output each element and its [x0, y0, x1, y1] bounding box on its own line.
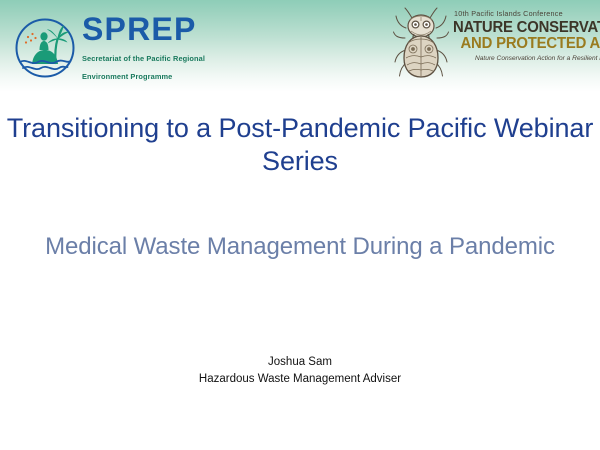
slide-body: Transitioning to a Post-Pandemic Pacific… — [0, 92, 600, 450]
sprep-text-block: SPREP Secretariat of the Pacific Regiona… — [82, 11, 205, 84]
conference-title-line-2: AND PROTECTED AREAS — [461, 36, 600, 52]
slide-main-title: Transitioning to a Post-Pandemic Pacific… — [0, 112, 600, 178]
presenter-block: Joshua Sam Hazardous Waste Management Ad… — [0, 354, 600, 389]
conference-eyebrow: 10th Pacific Islands Conference — [454, 10, 600, 17]
sprep-island-emblem — [14, 17, 76, 79]
conference-title-line-1: NATURE CONSERVATION — [453, 20, 600, 36]
sprep-wordmark: SPREP — [82, 13, 205, 45]
conference-text-block: 10th Pacific Islands Conference NATURE C… — [453, 4, 600, 62]
presenter-name: Joshua Sam — [0, 354, 600, 371]
sprep-tagline-line-1: Secretariat of the Pacific Regional — [82, 54, 205, 63]
sprep-tagline: Secretariat of the Pacific Regional Envi… — [82, 48, 205, 84]
presenter-role: Hazardous Waste Management Adviser — [0, 371, 600, 388]
conference-tagline: Nature Conservation Action for a Resilie… — [453, 56, 600, 63]
pacific-beetle-emblem — [393, 4, 449, 84]
sprep-tagline-line-2: Environment Programme — [82, 72, 172, 81]
slide-sub-title: Medical Waste Management During a Pandem… — [0, 232, 600, 262]
conference-logo: 10th Pacific Islands Conference NATURE C… — [393, 4, 600, 84]
sprep-logo: SPREP Secretariat of the Pacific Regiona… — [14, 11, 205, 84]
